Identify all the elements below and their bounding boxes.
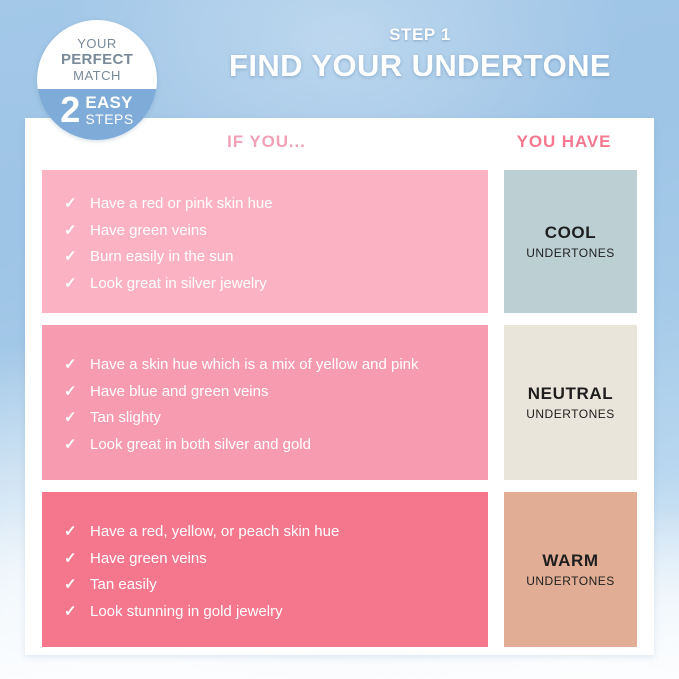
badge-line-your: YOUR (37, 36, 157, 51)
badge-line-easy: EASY (85, 94, 133, 111)
badge-line-steps: STEPS (85, 112, 133, 126)
undertone-row-warm: ✓ Have a red, yellow, or peach skin hue … (42, 492, 637, 647)
criteria-text: Tan easily (90, 575, 466, 595)
check-icon: ✓ (64, 408, 90, 428)
check-icon: ✓ (64, 274, 90, 294)
criteria-text: Burn easily in the sun (90, 247, 466, 267)
check-icon: ✓ (64, 435, 90, 455)
check-icon: ✓ (64, 355, 90, 375)
perfect-match-badge: YOUR PERFECT MATCH 2 EASY STEPS (37, 20, 157, 140)
list-item: ✓ Tan slighty (64, 405, 466, 432)
page-header: STEP 1 FIND YOUR UNDERTONE (175, 26, 665, 83)
criteria-text: Have green veins (90, 221, 466, 241)
list-item: ✓ Tan easily (64, 572, 466, 599)
list-item: ✓ Have a red, yellow, or peach skin hue (64, 519, 466, 546)
check-icon: ✓ (64, 221, 90, 241)
swatch-title: NEUTRAL (528, 384, 613, 404)
check-icon: ✓ (64, 522, 90, 542)
criteria-text: Have a red, yellow, or peach skin hue (90, 522, 466, 542)
list-item: ✓ Look great in silver jewelry (64, 270, 466, 297)
content-panel: IF YOU... YOU HAVE ✓ Have a red or pink … (25, 118, 654, 655)
swatch-title: WARM (542, 551, 598, 571)
check-icon: ✓ (64, 575, 90, 595)
swatch-title: COOL (545, 223, 597, 243)
check-icon: ✓ (64, 194, 90, 214)
criteria-text: Have green veins (90, 549, 466, 569)
undertone-row-neutral: ✓ Have a skin hue which is a mix of yell… (42, 325, 637, 480)
badge-lower-text: 2 EASY STEPS (37, 93, 157, 127)
swatch-subtitle: UNDERTONES (526, 246, 615, 260)
badge-step-count: 2 (60, 93, 80, 127)
page-title: FIND YOUR UNDERTONE (175, 49, 665, 84)
criteria-text: Tan slighty (90, 408, 466, 428)
swatch-subtitle: UNDERTONES (526, 407, 615, 421)
badge-line-perfect: PERFECT (37, 51, 157, 68)
criteria-text: Look stunning in gold jewelry (90, 602, 466, 622)
column-header-you-have: YOU HAVE (491, 132, 637, 152)
check-icon: ✓ (64, 382, 90, 402)
list-item: ✓ Have green veins (64, 545, 466, 572)
undertone-row-cool: ✓ Have a red or pink skin hue ✓ Have gre… (42, 170, 637, 313)
badge-upper-text: YOUR PERFECT MATCH (37, 36, 157, 84)
criteria-list-cool: ✓ Have a red or pink skin hue ✓ Have gre… (42, 170, 488, 313)
criteria-list-warm: ✓ Have a red, yellow, or peach skin hue … (42, 492, 488, 647)
step-label: STEP 1 (175, 26, 665, 45)
list-item: ✓ Have a red or pink skin hue (64, 191, 466, 218)
badge-line-match: MATCH (37, 68, 157, 83)
criteria-text: Have a skin hue which is a mix of yellow… (90, 355, 466, 375)
list-item: ✓ Have blue and green veins (64, 378, 466, 405)
list-item: ✓ Burn easily in the sun (64, 244, 466, 271)
criteria-text: Look great in silver jewelry (90, 274, 466, 294)
undertone-swatch-neutral: NEUTRAL UNDERTONES (504, 325, 637, 480)
criteria-text: Have blue and green veins (90, 382, 466, 402)
undertone-swatch-cool: COOL UNDERTONES (504, 170, 637, 313)
undertone-swatch-warm: WARM UNDERTONES (504, 492, 637, 647)
list-item: ✓ Look great in both silver and gold (64, 431, 466, 458)
check-icon: ✓ (64, 602, 90, 622)
check-icon: ✓ (64, 549, 90, 569)
list-item: ✓ Have green veins (64, 217, 466, 244)
check-icon: ✓ (64, 247, 90, 267)
criteria-text: Have a red or pink skin hue (90, 194, 466, 214)
criteria-list-neutral: ✓ Have a skin hue which is a mix of yell… (42, 325, 488, 480)
list-item: ✓ Look stunning in gold jewelry (64, 598, 466, 625)
list-item: ✓ Have a skin hue which is a mix of yell… (64, 352, 466, 379)
badge-step-words: EASY STEPS (85, 94, 133, 126)
swatch-subtitle: UNDERTONES (526, 574, 615, 588)
criteria-text: Look great in both silver and gold (90, 435, 466, 455)
